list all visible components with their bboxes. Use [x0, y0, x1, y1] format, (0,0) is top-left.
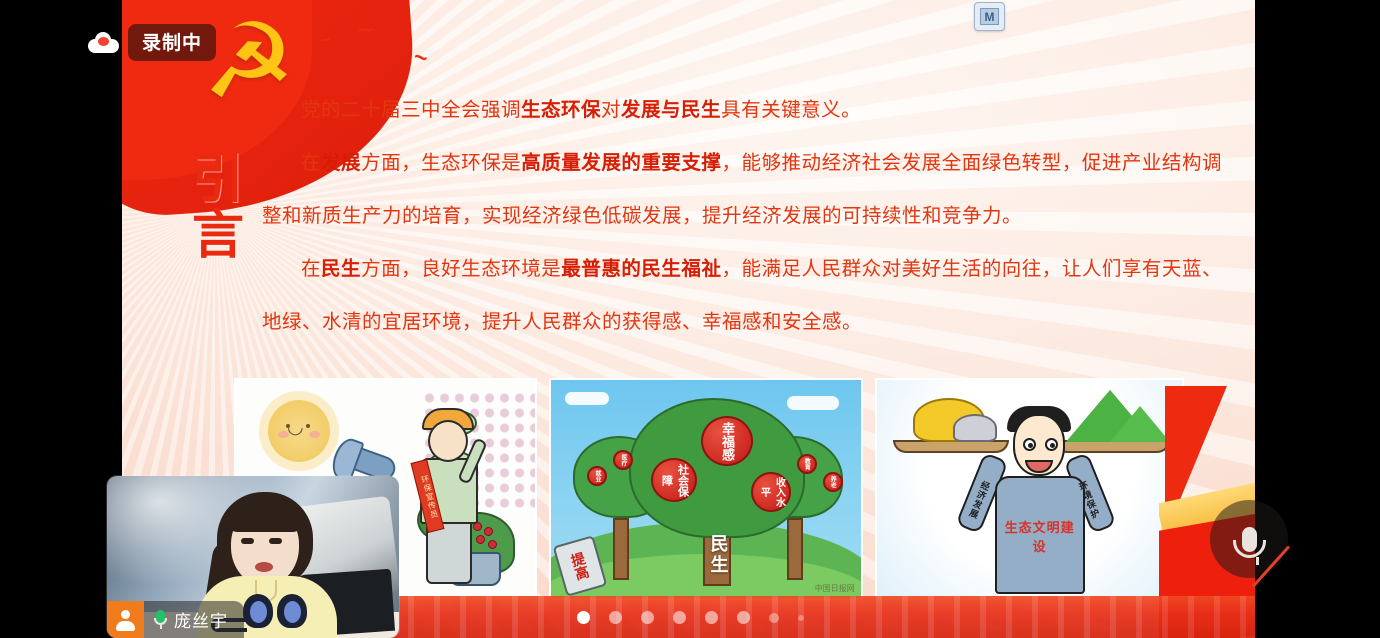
- webcam-pip[interactable]: 庞丝宇: [107, 476, 399, 638]
- person-icon: [107, 601, 144, 638]
- participant-name: 庞丝宇: [174, 607, 228, 632]
- bird-icon: ~: [411, 43, 430, 72]
- green-mountain-icon: [1110, 406, 1170, 442]
- ecological-balance-illustration: 经济发展 环境保护 生态文明建设: [875, 378, 1184, 600]
- image-watermark: 中国日报网: [815, 583, 855, 594]
- pagination-dot[interactable]: [798, 615, 804, 621]
- slide-paragraph: 在民生方面，良好生态环境是最普惠的民生福祉，能满足人民群众对美好生活的向往，让人…: [262, 243, 1222, 349]
- apple-label: 养老: [823, 472, 843, 492]
- silver-ingot-icon: [953, 414, 997, 442]
- video-stage: ☭ ~ ~ ~ 引 言 党的二十届三中全会强调生态环保对发展与民生具有关键意义。…: [0, 0, 1380, 638]
- apple-label: 教育: [797, 454, 817, 474]
- pagination-dot[interactable]: [577, 611, 590, 624]
- emphasis-text: 高质量发展的重要支撑: [521, 152, 721, 174]
- sun-icon: [268, 400, 330, 462]
- pagination-dot[interactable]: [705, 611, 718, 624]
- body-text: 在: [301, 152, 321, 174]
- slide-body-text: 党的二十届三中全会强调生态环保对发展与民生具有关键意义。在发展方面，生态环保是高…: [262, 84, 1222, 349]
- save-icon[interactable]: M: [974, 2, 1005, 31]
- body-text: 在: [301, 258, 321, 280]
- name-box: 庞丝宇: [144, 601, 244, 638]
- mic-on-icon: [154, 610, 167, 629]
- cloud-record-icon: [88, 32, 119, 53]
- emphasis-text: 发展与民生: [621, 99, 721, 121]
- cloud-icon: [787, 396, 839, 410]
- body-text: 党的二十届三中全会强调: [301, 99, 521, 121]
- emphasis-text: 最普惠的民生福祉: [561, 258, 721, 280]
- slide-paragraph: 在发展方面，生态环保是高质量发展的重要支撑，能够推动经济社会发展全面绿色转型，促…: [262, 137, 1222, 243]
- minsheng-tree-illustration: 幸福感 社会保障 收入水平 就业 医疗 教育 养老 民生 提高 中国日报网: [549, 378, 862, 600]
- slide-paragraph: 党的二十届三中全会强调生态环保对发展与民生具有关键意义。: [262, 84, 1222, 137]
- propaganda-person: 环保宣传员: [406, 398, 492, 588]
- pagination-dot[interactable]: [737, 611, 750, 624]
- mic-muted-icon: [1242, 527, 1257, 552]
- emphasis-text: 发展: [321, 152, 361, 174]
- body-text: 对: [601, 99, 621, 121]
- cloud-icon: [565, 392, 609, 405]
- lead-title-char: 引: [185, 152, 253, 208]
- shirt-label: 生态文明建设: [1001, 518, 1079, 556]
- lead-title-char: 言: [185, 208, 253, 264]
- eye: [1023, 438, 1036, 451]
- apple-label: 收入水平: [751, 472, 791, 512]
- participant-name-bar: 庞丝宇: [107, 601, 244, 638]
- pagination-dot[interactable]: [673, 611, 686, 624]
- save-icon-glyph: M: [980, 8, 999, 25]
- pagination-dot[interactable]: [769, 613, 779, 623]
- recording-badge: 录制中: [88, 24, 216, 61]
- pagination-dot[interactable]: [641, 611, 654, 624]
- trunk-label: 民生: [703, 534, 731, 576]
- eye: [1045, 438, 1058, 451]
- body-text: 方面，良好生态环境是: [361, 258, 561, 280]
- body-text: 方面，生态环保是: [361, 152, 521, 174]
- pagination-dot[interactable]: [609, 611, 622, 624]
- lead-title: 引 言: [185, 152, 253, 264]
- emphasis-text: 生态环保: [521, 99, 601, 121]
- body-text: 具有关键意义。: [721, 99, 861, 121]
- mic-muted-button[interactable]: [1210, 500, 1288, 578]
- plush-toy: [237, 594, 327, 638]
- recording-label: 录制中: [128, 24, 216, 61]
- emphasis-text: 民生: [321, 258, 361, 280]
